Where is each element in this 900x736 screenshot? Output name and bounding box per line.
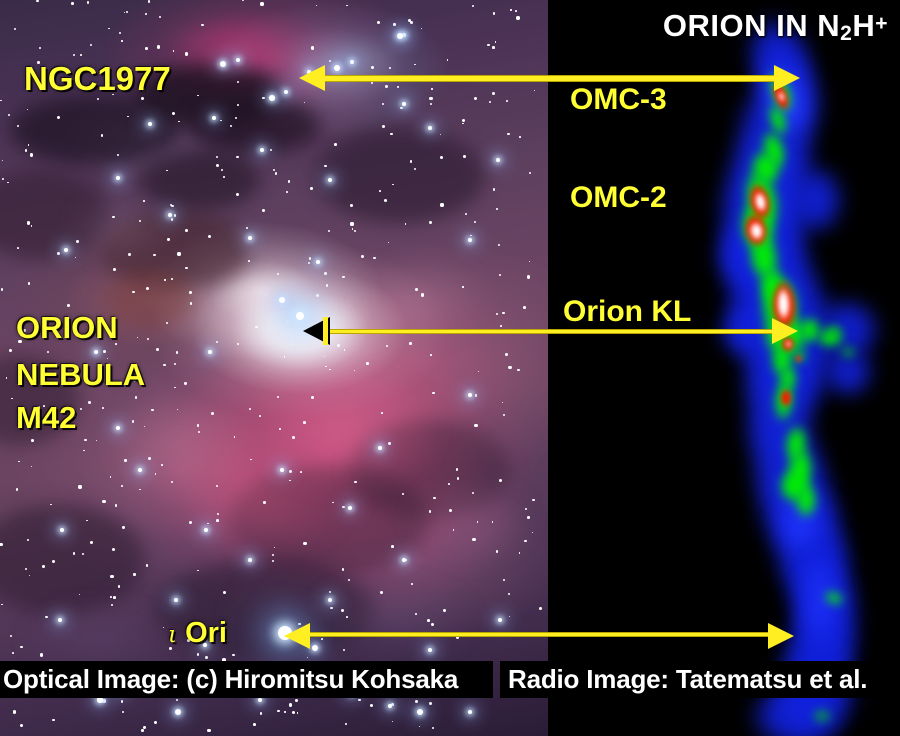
star [217, 513, 219, 515]
arrow-iota-ori-head-right [768, 623, 794, 649]
dust-lane [10, 95, 180, 165]
star [124, 12, 126, 14]
star [177, 409, 178, 410]
star [269, 95, 275, 101]
star [43, 405, 45, 407]
star [310, 187, 313, 190]
star [7, 182, 9, 184]
star [428, 648, 432, 652]
star [208, 235, 211, 238]
star [28, 282, 31, 285]
star [127, 116, 128, 117]
star [462, 119, 465, 122]
star [499, 479, 502, 482]
radio-emission-blob [714, 220, 774, 290]
radio-emission-blob [778, 487, 822, 554]
star [31, 74, 34, 77]
star [132, 291, 135, 294]
star [503, 579, 506, 582]
star [232, 654, 235, 657]
star [73, 54, 75, 56]
star [272, 560, 274, 562]
star [465, 213, 467, 215]
arrow-ngc1977-omc3-head-right [774, 65, 800, 91]
star [324, 272, 327, 275]
star [348, 579, 350, 581]
star [388, 704, 392, 708]
star [255, 326, 257, 328]
star [94, 350, 98, 354]
star [409, 342, 412, 345]
radio-emission-blob [780, 389, 792, 407]
radio-emission-blob [758, 265, 787, 307]
radio-emission-blob [822, 346, 874, 398]
star [342, 568, 344, 570]
star [14, 28, 16, 30]
star [496, 158, 500, 162]
star [462, 123, 464, 125]
dust-lane [190, 98, 320, 153]
star [159, 16, 161, 18]
star [415, 700, 418, 703]
radio-emission-blob [746, 419, 831, 520]
star [107, 358, 108, 359]
star [110, 596, 112, 598]
star [380, 591, 383, 594]
star [260, 2, 263, 5]
star [330, 607, 333, 610]
star [453, 529, 455, 531]
star [57, 252, 60, 255]
star [342, 506, 345, 509]
radio-emission-blob [841, 347, 855, 357]
star [260, 712, 262, 714]
star [498, 618, 502, 622]
star [414, 64, 415, 65]
star [510, 9, 511, 10]
arrow-ngc1977-omc3-head-left [299, 65, 325, 91]
star [391, 545, 394, 548]
title-superscript: + [875, 12, 888, 35]
star [67, 304, 70, 307]
star [31, 466, 32, 467]
star [527, 516, 530, 519]
star [211, 412, 214, 415]
star [492, 46, 495, 49]
star [289, 703, 292, 706]
star [146, 287, 149, 290]
star [143, 726, 146, 729]
dust-lane [105, 273, 195, 328]
radio-emission-blob [735, 197, 780, 258]
star [342, 276, 344, 278]
star [292, 711, 295, 714]
star [133, 379, 136, 382]
radio-image-panel [548, 0, 900, 736]
star [170, 204, 172, 206]
star [433, 497, 435, 499]
star [110, 575, 113, 578]
star [50, 504, 51, 505]
star [519, 552, 521, 554]
star [328, 598, 332, 602]
star [107, 363, 110, 366]
star [523, 306, 526, 309]
nebula-wisp [105, 380, 255, 500]
star [277, 396, 280, 399]
star [112, 216, 115, 219]
star [311, 396, 314, 399]
star [468, 238, 472, 242]
star [354, 230, 356, 232]
star [174, 387, 175, 388]
star [388, 242, 389, 243]
star [39, 47, 41, 49]
star [440, 203, 443, 206]
star [174, 214, 177, 217]
star [410, 21, 413, 24]
star [539, 607, 542, 610]
star [354, 370, 355, 371]
star [177, 252, 180, 255]
star [470, 235, 471, 236]
star [506, 100, 508, 102]
star [402, 33, 406, 37]
star [463, 155, 466, 158]
star [82, 553, 84, 555]
star [477, 521, 479, 523]
star [472, 492, 474, 494]
star [429, 510, 432, 513]
radio-emission-blob [816, 298, 880, 362]
star [167, 238, 169, 240]
star [386, 345, 388, 347]
star [115, 343, 117, 345]
star [392, 184, 393, 185]
star [12, 652, 14, 654]
star [316, 260, 320, 264]
title-prefix: ORION IN N [663, 8, 840, 43]
star [429, 702, 432, 705]
star [86, 520, 87, 521]
star [207, 523, 208, 524]
star [272, 554, 274, 556]
star [27, 109, 28, 110]
star [2, 160, 3, 161]
star [174, 363, 176, 365]
star [262, 97, 264, 99]
star [139, 489, 141, 491]
star [76, 325, 78, 327]
star [408, 19, 411, 22]
star [187, 639, 190, 642]
star [197, 424, 200, 427]
star [492, 521, 494, 523]
star [346, 5, 348, 7]
star [197, 570, 199, 572]
radio-emission-blob [803, 557, 837, 643]
star [221, 169, 223, 171]
star [308, 262, 310, 264]
star [389, 67, 391, 69]
star [90, 541, 93, 544]
star [341, 609, 344, 612]
star [324, 165, 327, 168]
star [284, 711, 285, 712]
star [295, 699, 298, 702]
star [31, 225, 32, 226]
star [197, 653, 200, 656]
star [220, 120, 222, 122]
star [515, 10, 517, 12]
star [487, 44, 489, 46]
star [529, 261, 530, 262]
star [235, 117, 237, 119]
radio-emission-blob [776, 288, 790, 320]
star [312, 645, 319, 652]
star [381, 412, 383, 414]
radio-emission-blob [783, 424, 809, 464]
star [119, 32, 121, 34]
star [97, 697, 102, 702]
star [500, 325, 502, 327]
star [171, 205, 173, 207]
star [474, 221, 476, 223]
star [112, 330, 114, 332]
star [8, 114, 10, 116]
star [58, 618, 62, 622]
star [145, 13, 147, 15]
star [361, 255, 364, 258]
star [457, 477, 460, 480]
star [141, 729, 143, 731]
star [309, 257, 311, 259]
radio-emission-blob [778, 468, 809, 503]
star [282, 305, 284, 307]
star [115, 504, 117, 506]
star [18, 461, 19, 462]
star [378, 446, 382, 450]
star [390, 133, 393, 136]
star [371, 66, 374, 69]
star [472, 538, 475, 541]
star [242, 0, 244, 1]
star [146, 564, 148, 566]
star [300, 471, 302, 473]
star [2, 178, 4, 180]
star [262, 209, 265, 212]
star [402, 558, 406, 562]
star [284, 356, 286, 358]
star [350, 60, 354, 64]
radio-emission-blob [741, 211, 771, 249]
star [197, 95, 199, 97]
star [148, 457, 151, 460]
star [73, 552, 76, 555]
radio-emission-blob [739, 165, 786, 235]
nebula-wisp [65, 195, 175, 265]
radio-emission-blob [737, 345, 828, 439]
star [303, 421, 306, 424]
star [122, 526, 124, 528]
star [216, 341, 218, 343]
radio-emission-blob [793, 349, 807, 363]
star [427, 619, 430, 622]
radio-emission-blob [784, 529, 856, 639]
star [79, 594, 80, 595]
star [534, 90, 535, 91]
radio-emission-blob [745, 181, 774, 223]
arrow-ngc1977-omc3-line [324, 75, 780, 82]
radio-emission-blob [772, 377, 795, 422]
star [166, 170, 168, 172]
star [20, 646, 23, 649]
star [397, 86, 399, 88]
radio-emission-blob [739, 387, 817, 474]
star [154, 721, 157, 724]
star [325, 366, 327, 368]
star [303, 542, 306, 545]
arrow-orion-kl-line [330, 329, 780, 334]
star [31, 439, 34, 442]
star [496, 208, 498, 210]
star [448, 483, 450, 485]
star [288, 180, 290, 182]
star [216, 485, 218, 487]
star [304, 102, 305, 103]
radio-emission-blob [748, 221, 764, 241]
star [171, 218, 174, 221]
star [29, 421, 31, 423]
star [492, 92, 495, 95]
star [280, 468, 284, 472]
radio-emission-blob [716, 193, 815, 312]
star [184, 382, 186, 384]
star [52, 719, 54, 721]
star [419, 726, 420, 727]
star [354, 481, 357, 484]
dust-lane [100, 210, 250, 290]
star [163, 364, 166, 367]
star [345, 723, 347, 725]
star [185, 52, 188, 55]
star [337, 344, 340, 347]
star [502, 402, 503, 403]
star [495, 41, 497, 43]
star [84, 439, 86, 441]
star [344, 349, 345, 350]
star [527, 275, 530, 278]
star [350, 204, 353, 207]
star [101, 134, 104, 137]
star [216, 164, 219, 167]
star [226, 640, 227, 641]
star [121, 485, 123, 487]
radio-emission-blob [791, 570, 861, 670]
star [249, 408, 251, 410]
star [112, 94, 114, 96]
nebula-wisp [405, 473, 535, 568]
star [493, 188, 496, 191]
nebula-wisp [300, 575, 480, 665]
star [277, 710, 279, 712]
star [45, 616, 48, 619]
star [279, 297, 285, 303]
star [370, 704, 373, 707]
star [87, 1, 90, 4]
star [176, 699, 178, 701]
star [42, 565, 45, 568]
star [110, 476, 112, 478]
radio-emission-blob [795, 355, 802, 362]
star [508, 366, 511, 369]
star [207, 729, 210, 732]
star [505, 353, 508, 356]
radio-emission-blob [724, 77, 828, 203]
star [1, 288, 4, 291]
radio-emission-blob [799, 317, 821, 343]
star [440, 134, 441, 135]
star [121, 700, 123, 702]
star [237, 343, 239, 345]
radio-emission-blob [777, 90, 785, 102]
star [6, 377, 8, 379]
star [83, 450, 85, 452]
radio-emission-blob [785, 446, 814, 494]
star [25, 149, 28, 152]
star [248, 260, 250, 262]
star [204, 528, 208, 532]
star [128, 253, 131, 256]
star [350, 222, 353, 225]
star [503, 414, 505, 416]
star [286, 191, 288, 193]
star [391, 703, 394, 706]
star [1, 604, 3, 606]
star [517, 369, 519, 371]
star [234, 436, 236, 438]
star [236, 193, 239, 196]
star [11, 398, 13, 400]
star [398, 86, 399, 87]
star [508, 593, 510, 595]
dust-lane [0, 505, 145, 615]
star [29, 575, 30, 576]
star [462, 286, 463, 287]
star [382, 125, 385, 128]
optical-image-panel [0, 0, 548, 736]
star [164, 279, 165, 280]
star [148, 122, 152, 126]
star [61, 377, 63, 379]
star [421, 28, 422, 29]
star [126, 11, 129, 14]
star [329, 369, 330, 370]
star [37, 406, 39, 408]
star [25, 568, 27, 570]
star [332, 502, 334, 504]
star [212, 116, 216, 120]
star [414, 168, 417, 171]
star [472, 5, 474, 7]
star [270, 149, 272, 151]
star [468, 393, 472, 397]
star [153, 254, 155, 256]
star [406, 559, 407, 560]
star [141, 97, 144, 100]
star [328, 178, 332, 182]
star [174, 598, 178, 602]
